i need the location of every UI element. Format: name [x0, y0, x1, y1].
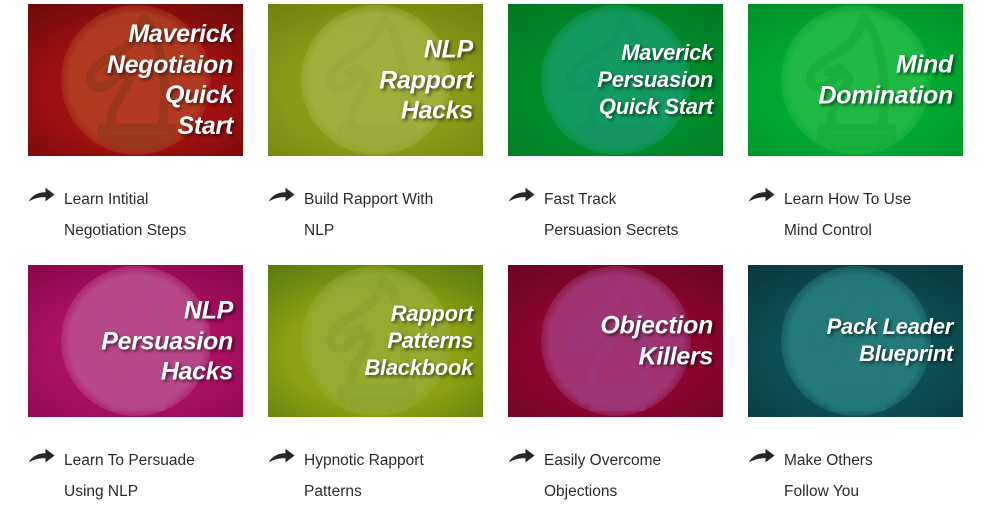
product-banner[interactable]: NLP Persuasion Hacks: [28, 265, 243, 417]
caption-text: Learn How To Use Mind Control: [784, 184, 911, 246]
caption-text: Hypnotic Rapport Patterns: [304, 445, 424, 507]
caption-text: Build Rapport With NLP: [304, 184, 433, 246]
product-caption: Build Rapport With NLP: [268, 184, 496, 246]
product-banner[interactable]: Maverick Persuasion Quick Start: [508, 4, 723, 156]
product-caption: Learn Intitial Negotiation Steps: [28, 184, 256, 246]
product-banner[interactable]: NLP Rapport Hacks: [268, 4, 483, 156]
product-caption: Learn To Persuade Using NLP: [28, 445, 256, 507]
curved-arrow-right-icon: [748, 187, 775, 207]
banner-title: NLP Rapport Hacks: [379, 34, 473, 126]
caption-text: Make Others Follow You: [784, 445, 873, 507]
product-grid: Maverick Negotiaion Quick StartLearn Int…: [0, 0, 986, 516]
caption-text: Easily Overcome Objections: [544, 445, 661, 507]
caption-text: Learn Intitial Negotiation Steps: [64, 184, 186, 246]
banner-title: Maverick Negotiaion Quick Start: [107, 19, 233, 141]
curved-arrow-right-icon: [268, 448, 295, 468]
product-banner[interactable]: Pack Leader Blueprint: [748, 265, 963, 417]
product-cell: Rapport Patterns BlackbookHypnotic Rappo…: [268, 265, 508, 526]
product-caption: Learn How To Use Mind Control: [748, 184, 976, 246]
product-caption: Fast Track Persuasion Secrets: [508, 184, 736, 246]
banner-title: Rapport Patterns Blackbook: [364, 301, 473, 381]
product-caption: Make Others Follow You: [748, 445, 976, 507]
product-caption: Hypnotic Rapport Patterns: [268, 445, 496, 507]
curved-arrow-right-icon: [748, 448, 775, 468]
product-cell: Objection KillersEasily Overcome Objecti…: [508, 265, 748, 526]
product-cell: Pack Leader BlueprintMake Others Follow …: [748, 265, 986, 526]
banner-title: NLP Persuasion Hacks: [101, 295, 233, 387]
product-cell: Mind DominationLearn How To Use Mind Con…: [748, 4, 986, 265]
product-cell: Maverick Negotiaion Quick StartLearn Int…: [28, 4, 268, 265]
product-banner[interactable]: Maverick Negotiaion Quick Start: [28, 4, 243, 156]
banner-title: Pack Leader Blueprint: [827, 314, 953, 368]
caption-text: Learn To Persuade Using NLP: [64, 445, 195, 507]
product-cell: NLP Rapport HacksBuild Rapport With NLP: [268, 4, 508, 265]
curved-arrow-right-icon: [28, 187, 55, 207]
curved-arrow-right-icon: [28, 448, 55, 468]
product-cell: NLP Persuasion HacksLearn To Persuade Us…: [28, 265, 268, 526]
curved-arrow-right-icon: [508, 448, 535, 468]
banner-title: Mind Domination: [819, 50, 954, 111]
product-banner[interactable]: Objection Killers: [508, 265, 723, 417]
banner-title: Maverick Persuasion Quick Start: [597, 40, 713, 120]
banner-title: Objection Killers: [600, 311, 713, 372]
product-caption: Easily Overcome Objections: [508, 445, 736, 507]
product-cell: Maverick Persuasion Quick StartFast Trac…: [508, 4, 748, 265]
curved-arrow-right-icon: [268, 187, 295, 207]
product-banner[interactable]: Rapport Patterns Blackbook: [268, 265, 483, 417]
product-banner[interactable]: Mind Domination: [748, 4, 963, 156]
caption-text: Fast Track Persuasion Secrets: [544, 184, 678, 246]
curved-arrow-right-icon: [508, 187, 535, 207]
